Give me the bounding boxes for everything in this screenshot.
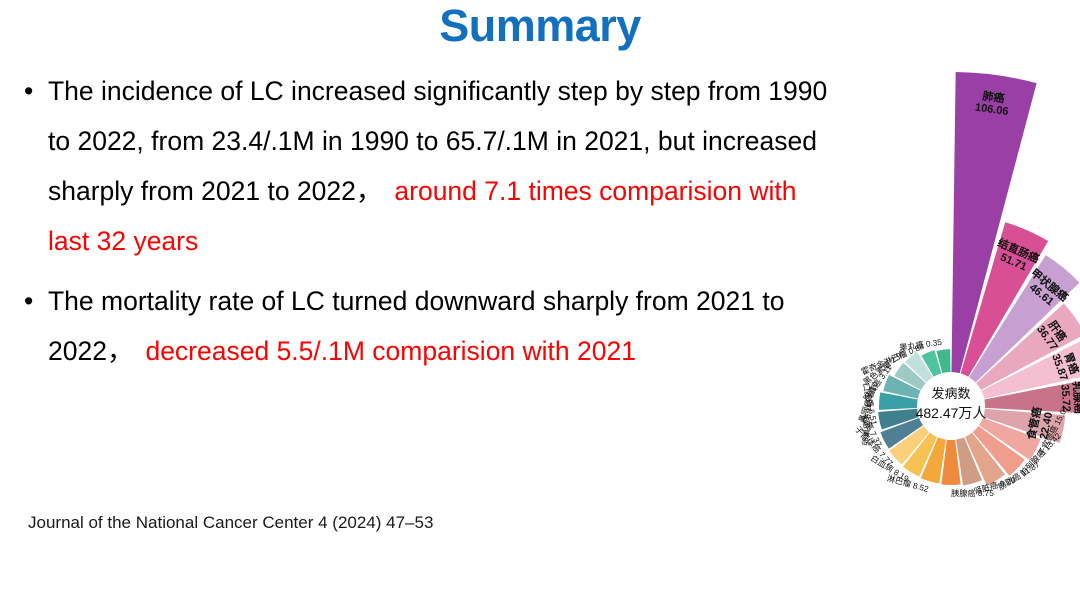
- donut-center-value: 482.47万人: [916, 405, 987, 421]
- bullet-marker-icon: •: [24, 276, 33, 326]
- petal-outer-label: 胰腺癌 8.75: [951, 488, 994, 498]
- bullet-2-text-highlight: decreased 5.5/.1M comparision with 2021: [145, 336, 636, 366]
- rose-chart-svg: 肺癌106.06结直肠癌51.71甲状腺癌46.61肝癌36.77胃癌35.87…: [822, 58, 1080, 526]
- page-title: Summary: [0, 0, 1080, 54]
- bullet-marker-icon: •: [24, 66, 33, 116]
- chart-source-credit: J Natl Cancer Cent. 2024,4(1):page.: [822, 582, 1080, 594]
- slide-canvas: Summary • The incidence of LC increased …: [0, 0, 1080, 555]
- list-item: • The incidence of LC increased signific…: [18, 66, 830, 266]
- summary-bullet-list: • The incidence of LC increased signific…: [18, 66, 830, 376]
- cancer-incidence-rose-chart: 肺癌106.06结直肠癌51.71甲状腺癌46.61肝癌36.77胃癌35.87…: [822, 58, 1080, 526]
- journal-reference: Journal of the National Cancer Center 4 …: [28, 513, 433, 533]
- donut-center-label: 发病数: [931, 386, 970, 401]
- list-item: • The mortality rate of LC turned downwa…: [18, 276, 830, 376]
- rose-petal-label: 胰腺癌 8.75: [951, 488, 994, 498]
